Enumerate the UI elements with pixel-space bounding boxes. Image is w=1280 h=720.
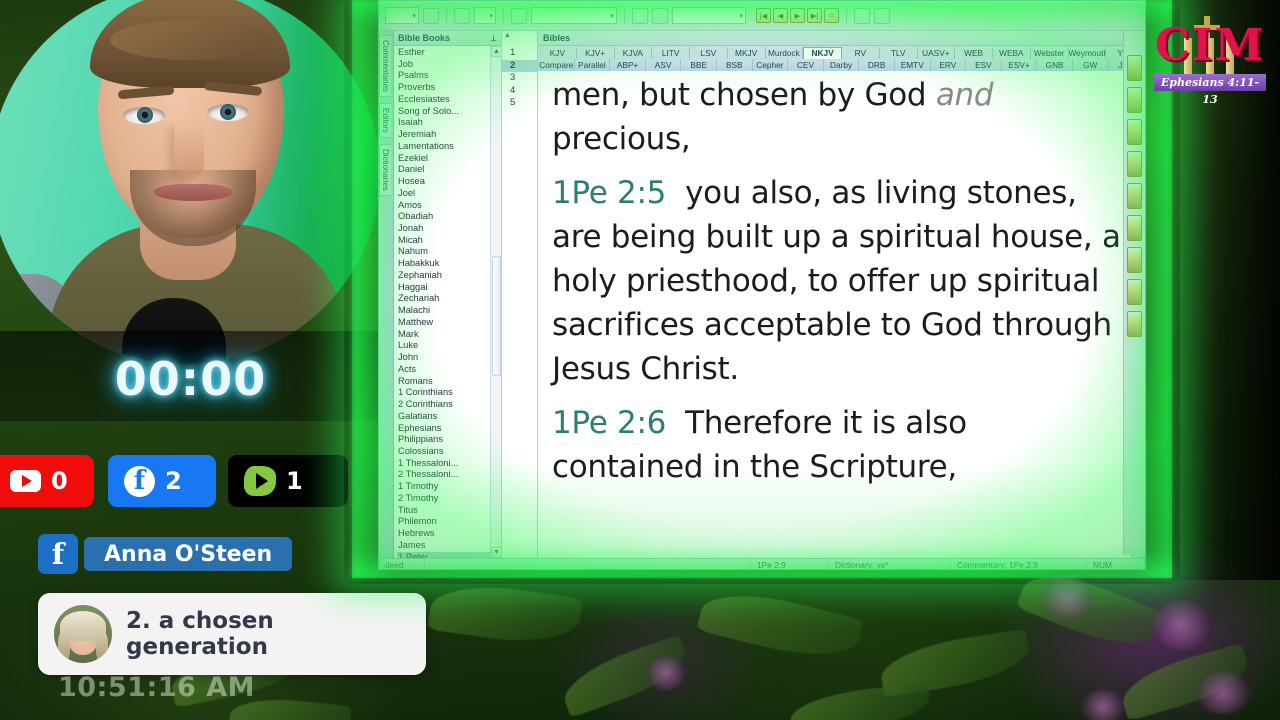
commenter-name-banner: f Anna O'Steen [38,534,292,574]
status-spacer [425,559,751,571]
book-list-item[interactable]: 1 Timothy [397,481,490,493]
nav-last-icon[interactable]: ▶| [807,8,822,23]
book-list-item[interactable]: Ezekiel [397,153,490,165]
partial-text-end: precious, [552,121,690,157]
book-list-item[interactable]: Matthew [397,317,490,329]
scripture-text[interactable]: men, but chosen by God and precious, 1Pe… [538,71,1131,558]
book-list-item[interactable]: Obadiah [397,211,490,223]
scripture-reading-area[interactable]: men, but chosen by God and precious, 1Pe… [538,71,1145,558]
version-tab-tlv[interactable]: TLV [880,47,918,59]
rumble-count: 1 [286,467,303,495]
chapter-list-pane[interactable]: ▲ 12345 [502,31,538,558]
status-commentary: Commentary: 1Pe 2:9 [951,559,1087,571]
book-list-item[interactable]: Hebrews [397,528,490,540]
books-scrollbar[interactable]: ▲ ▼ [490,46,501,558]
status-dictionary: Dictionary: ye* [829,559,951,571]
book-list-item[interactable]: Lamentations [397,141,490,153]
book-list-item[interactable]: Colossians [397,446,490,458]
book-list-item[interactable]: Amos [397,200,490,212]
bible-books-title: Bible Books [398,33,450,43]
version-tabs-row-2[interactable]: CompareParallelABP+ASVBBEBSBCepherCEVDar… [539,59,1144,71]
book-icon[interactable] [1127,183,1142,209]
vertical-tab-editors[interactable]: Editors [379,103,391,138]
version-tab-gw[interactable]: GW [1073,59,1109,71]
book-icon[interactable] [1127,279,1142,305]
book-list-item[interactable]: Nahum [397,246,490,258]
book-list-item[interactable]: Song of Solo... [397,106,490,118]
rumble-counter[interactable]: 1 [228,455,348,507]
version-tab-drb[interactable]: DRB [859,59,895,71]
version-tab-gnb[interactable]: GNB [1037,59,1073,71]
book-list-item[interactable]: Jeremiah [397,129,490,141]
book-list-item[interactable]: Ephesians [397,423,490,435]
version-tabs-row-1[interactable]: KJVKJV+KJVALITVLSVMKJVMurdockNKJVRVTLVUA… [539,47,1144,59]
social-counters: 0 f 2 1 [0,455,340,507]
version-tab-cev[interactable]: CEV [788,59,824,71]
youtube-counter[interactable]: 0 [0,455,94,507]
bible-books-list[interactable]: EstherJobPsalmsProverbsEcclesiastesSong … [394,46,490,558]
book-list-item[interactable]: Proverbs [397,82,490,94]
book-list-item[interactable]: 1 Peter [397,552,490,558]
version-tab-bbe[interactable]: BBE [681,59,717,71]
clock-timestamp: 10:51:16 AM [58,672,255,703]
version-tab-bsb[interactable]: BSB [717,59,753,71]
version-tab-mkjv[interactable]: MKJV [728,47,766,59]
scripture-partial-verse: men, but chosen by God and precious, [552,73,1121,161]
version-tab-kjva[interactable]: KJVA [615,47,653,59]
verse-reference[interactable]: 1Pe 2:5 [552,175,666,211]
chat-message-bubble: 2. a chosen generation [38,593,426,675]
app-panes: Commentaries Editors Dictionaries Bible … [379,31,1145,558]
reference-select[interactable] [672,7,746,24]
speaker-mouth [154,184,232,201]
book-icon[interactable] [1127,151,1142,177]
chapter-list-item[interactable]: 1 [502,47,537,60]
version-tab-compare[interactable]: Compare [539,59,575,71]
toolbar-dropdown-2[interactable] [474,7,496,24]
version-tab-weymouth[interactable]: Weymouth [1069,47,1107,59]
commenter-name: Anna O'Steen [84,537,292,571]
book-list-item[interactable]: Romans [397,376,490,388]
version-tab-emtv[interactable]: EMTV [895,59,931,71]
speaker-iris-left [137,107,153,123]
version-tab-webster[interactable]: Webster [1031,47,1069,59]
verse-1pe-2-5: 1Pe 2:5 you also, as living stones, are … [552,171,1121,391]
speaker-iris-right [220,104,236,120]
version-tab-litv[interactable]: LITV [652,47,690,59]
version-tab-parallel[interactable]: Parallel [575,59,611,71]
bible-study-app-window[interactable]: |◀ ◀ ▶ ▶| ⌂ Commentaries Editors Diction… [378,0,1146,570]
save-icon[interactable] [423,8,439,24]
status-num: NUM [1087,559,1145,571]
bible-version-tabs[interactable]: KJVKJV+KJVALITVLSVMKJVMurdockNKJVRVTLVUA… [538,46,1145,71]
logo-verse: Ephesians 4:11-13 [1154,74,1266,91]
toolbar-dropdown-1[interactable] [385,7,419,24]
print-icon[interactable] [854,8,870,24]
font-icon[interactable] [511,8,527,24]
version-tab-web[interactable]: WEB [955,47,993,59]
avatar [54,605,112,663]
book-icon[interactable] [1127,247,1142,273]
speaker-nose [174,122,204,178]
book-list-item[interactable]: 1 Corinthians [397,387,490,399]
book-list-item[interactable]: Job [397,59,490,71]
app-status-bar: deed 1Pe 2:9 Dictionary: ye* Commentary:… [379,558,1145,570]
scroll-up-icon[interactable]: ▲ [491,46,502,57]
book-list-item[interactable]: Haggai [397,282,490,294]
book-list-item[interactable]: Ecclesiastes [397,94,490,106]
vertical-tab-commentaries[interactable]: Commentaries [379,35,391,97]
link-icon[interactable] [652,8,668,24]
chapter-list-item[interactable]: 2 [502,60,537,73]
chapter-list-item[interactable]: 5 [502,97,537,110]
version-tab-weba[interactable]: WEBA [993,47,1031,59]
book-list-item[interactable]: Mark [397,329,490,341]
speaker-hair [90,0,290,88]
version-tab-rv[interactable]: RV [842,47,880,59]
book-list-item[interactable]: 1 Thessaloni... [397,458,490,470]
status-left: deed [379,559,425,571]
book-list-item[interactable]: Joel [397,188,490,200]
app-toolbar[interactable]: |◀ ◀ ▶ ▶| ⌂ [379,1,1145,31]
version-tab-kjv-[interactable]: KJV+ [577,47,615,59]
logo-text: CIM [1146,24,1274,68]
book-list-item[interactable]: 2 Thessaloni... [397,469,490,481]
verse-1pe-2-6: 1Pe 2:6 Therefore it is also contained i… [552,401,1121,489]
nav-home-icon[interactable]: ⌂ [824,8,839,23]
version-tab-esv[interactable]: ESV [966,59,1002,71]
book-list-item[interactable]: Jonah [397,223,490,235]
countdown-timer: 00:00 [0,352,381,406]
book-list-item[interactable]: Isaiah [397,117,490,129]
book-icon[interactable] [1127,215,1142,241]
youtube-count: 0 [51,467,68,495]
font-select[interactable] [531,7,617,24]
scroll-down-icon[interactable]: ▼ [491,547,502,558]
bibles-pane[interactable]: Bibles ⊥ KJVKJV+KJVALITVLSVMKJVMurdockNK… [538,31,1145,558]
book-list-item[interactable]: Habakkuk [397,258,490,270]
version-tab-erv[interactable]: ERV [931,59,967,71]
vertical-tab-dictionaries[interactable]: Dictionaries [379,144,391,196]
chapter-scroll-up-icon[interactable]: ▲ [504,32,511,39]
version-tab-uasv-[interactable]: UASV+ [918,47,956,59]
book-list-item[interactable]: 2 Timothy [397,493,490,505]
verse-reference[interactable]: 1Pe 2:6 [552,405,666,441]
version-tab-nkjv[interactable]: NKJV [803,47,842,59]
book-list-item[interactable]: Malachi [397,305,490,317]
version-tab-darby[interactable]: Darby [824,59,860,71]
nav-next-icon[interactable]: ▶ [790,8,805,23]
bible-books-title-bar: Bible Books ⊥ [394,31,501,46]
version-tab-cepher[interactable]: Cepher [753,59,789,71]
facebook-counter[interactable]: f 2 [108,455,216,507]
chat-message-text: 2. a chosen generation [126,608,410,660]
book-icon[interactable] [1127,119,1142,145]
version-tab-lsv[interactable]: LSV [690,47,728,59]
book-list-item[interactable]: Hosea [397,176,490,188]
partial-text-start: men, but chosen by God [552,77,936,113]
version-tab-kjv[interactable]: KJV [539,47,577,59]
search-icon[interactable] [632,8,648,24]
book-list-item[interactable]: Zechariah [397,293,490,305]
version-tab-abp-[interactable]: ABP+ [610,59,646,71]
navigation-buttons[interactable]: |◀ ◀ ▶ ▶| ⌂ [756,8,839,23]
bibles-title-bar: Bibles ⊥ [538,31,1145,46]
book-list-item[interactable]: Galatians [397,411,490,423]
book-icon[interactable] [1127,311,1142,337]
book-list-item[interactable]: Daniel [397,164,490,176]
version-tab-murdock[interactable]: Murdock [766,47,804,59]
book-list-item[interactable]: John [397,352,490,364]
webcam-feed [0,0,380,364]
ministry-logo: CIM Ephesians 4:11-13 [1146,16,1274,100]
facebook-count: 2 [165,467,182,495]
version-tab-asv[interactable]: ASV [646,59,682,71]
side-tool-strip[interactable] [1123,31,1145,555]
youtube-icon [10,470,41,492]
help-icon[interactable] [874,8,890,24]
pin-icon[interactable]: ⊥ [490,34,497,43]
book-list-item[interactable]: Acts [397,364,490,376]
version-tab-esv-[interactable]: ESV+ [1002,59,1038,71]
bibles-title: Bibles [543,33,570,43]
rumble-icon [244,466,276,496]
book-icon[interactable] [1127,87,1142,113]
book-list-item[interactable]: Psalms [397,70,490,82]
book-icon[interactable] [1127,55,1142,81]
book-list-item[interactable]: Esther [397,47,490,59]
book-list-item[interactable]: James [397,540,490,552]
book-list-item[interactable]: Zephaniah [397,270,490,282]
chapter-list-item[interactable]: 4 [502,85,537,98]
facebook-icon: f [38,534,78,574]
facebook-icon: f [124,466,155,497]
stream-canvas: 00:00 0 f 2 1 f Anna O'Steen 2. a chosen… [0,0,1280,720]
bible-books-pane[interactable]: Bible Books ⊥ EstherJobPsalmsProverbsEcc… [394,31,502,558]
nav-prev-icon[interactable]: ◀ [773,8,788,23]
chapter-list-item[interactable]: 3 [502,72,537,85]
partial-text-italic: and [936,77,993,113]
book-list-item[interactable]: Micah [397,235,490,247]
vertical-tab-strip[interactable]: Commentaries Editors Dictionaries [379,31,394,558]
book-list-item[interactable]: Philippians [397,434,490,446]
back-icon[interactable] [454,8,470,24]
book-list-item[interactable]: Titus [397,505,490,517]
book-list-item[interactable]: Luke [397,340,490,352]
book-list-item[interactable]: Philemon [397,516,490,528]
nav-first-icon[interactable]: |◀ [756,8,771,23]
status-position: 1Pe 2:9 [751,559,829,571]
books-scroll-thumb[interactable] [492,256,501,376]
book-list-item[interactable]: 2 Corinthians [397,399,490,411]
